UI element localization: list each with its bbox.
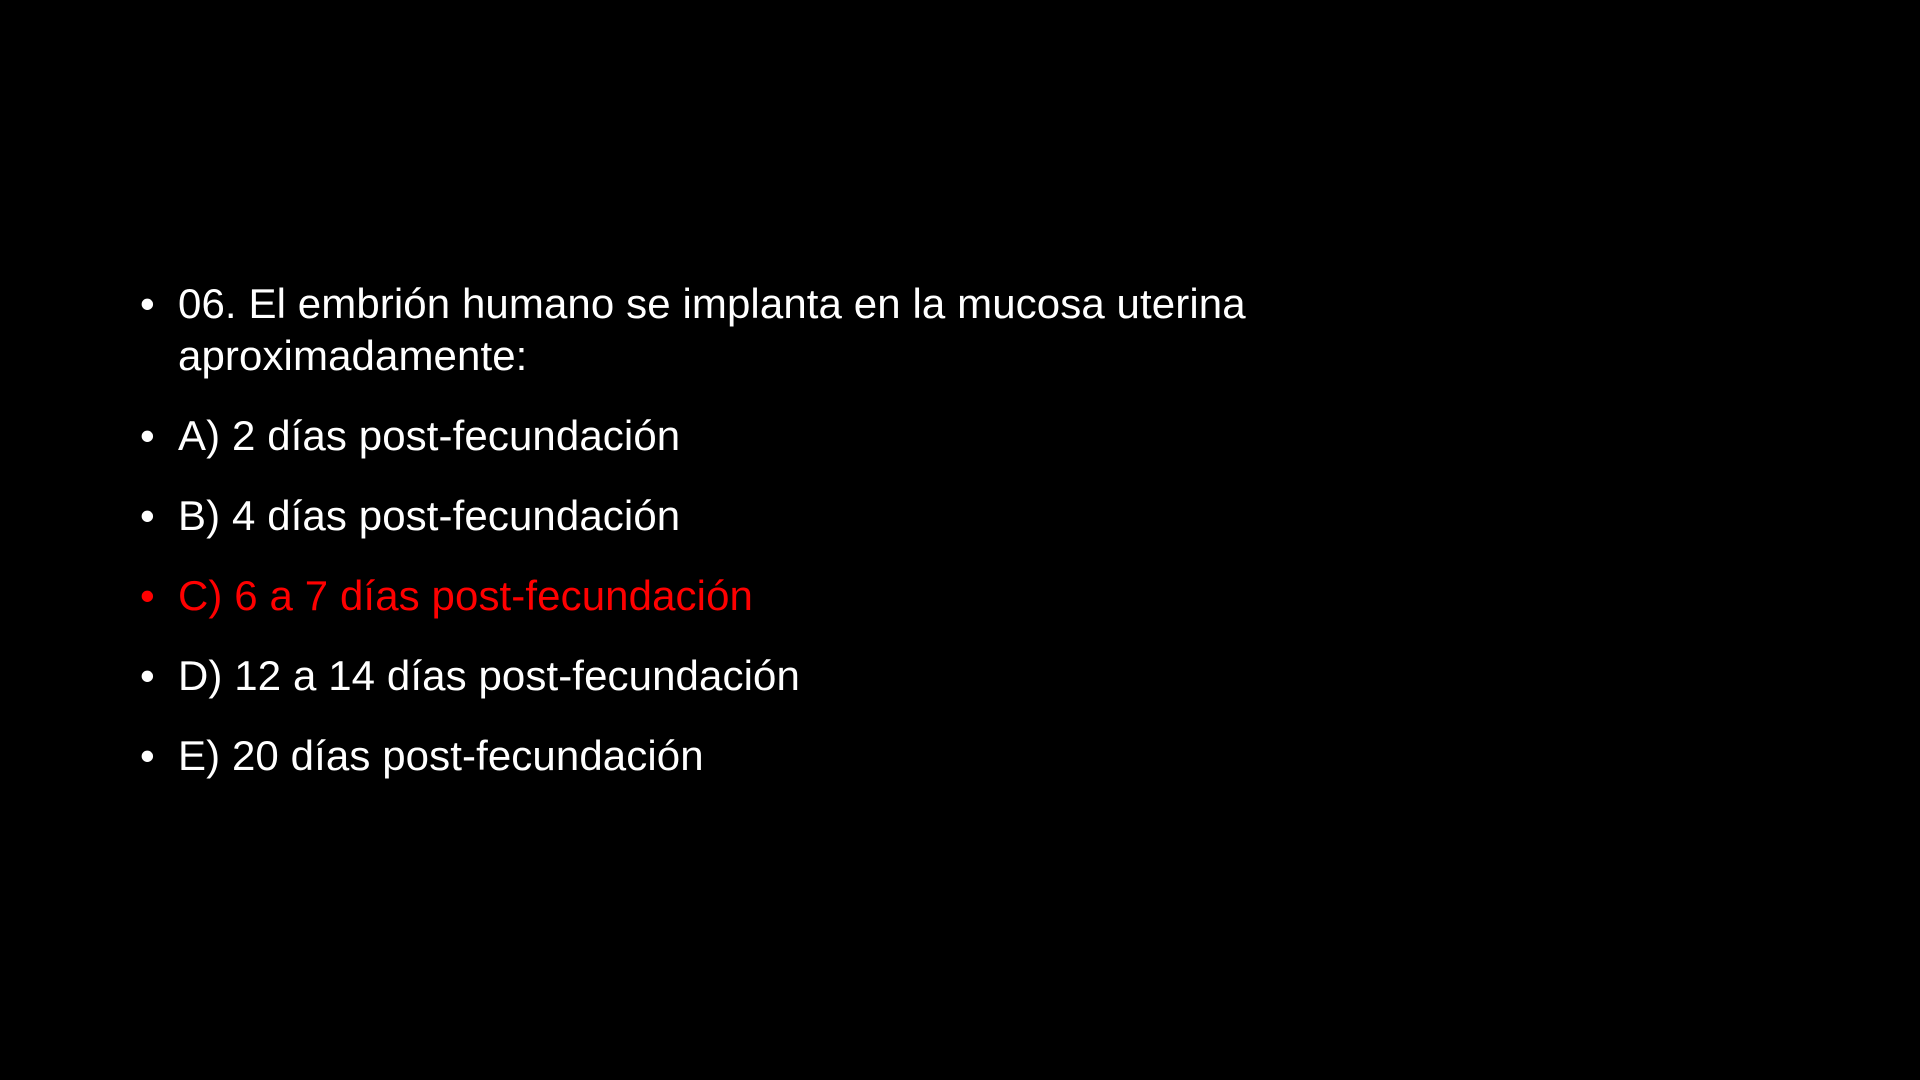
list-item-option-b[interactable]: • B) 4 días post-fecundación	[140, 490, 1700, 542]
bullet-icon: •	[140, 650, 178, 702]
question-text: 06. El embrión humano se implanta en la …	[178, 278, 1253, 382]
bullet-icon: •	[140, 490, 178, 542]
list-item-option-a[interactable]: • A) 2 días post-fecundación	[140, 410, 1700, 462]
list-item-question: • 06. El embrión humano se implanta en l…	[140, 278, 1700, 382]
bullet-icon: •	[140, 730, 178, 782]
bullet-icon: •	[140, 570, 178, 622]
bullet-list: • 06. El embrión humano se implanta en l…	[140, 278, 1700, 810]
list-item-option-e[interactable]: • E) 20 días post-fecundación	[140, 730, 1700, 782]
option-a-text: A) 2 días post-fecundación	[178, 410, 1700, 462]
option-c-text: C) 6 a 7 días post-fecundación	[178, 570, 1700, 622]
option-b-text: B) 4 días post-fecundación	[178, 490, 1700, 542]
option-e-text: E) 20 días post-fecundación	[178, 730, 1700, 782]
bullet-icon: •	[140, 278, 178, 330]
slide-canvas: • 06. El embrión humano se implanta en l…	[0, 0, 1920, 1080]
option-d-text: D) 12 a 14 días post-fecundación	[178, 650, 1700, 702]
bullet-icon: •	[140, 410, 178, 462]
list-item-option-c[interactable]: • C) 6 a 7 días post-fecundación	[140, 570, 1700, 622]
list-item-option-d[interactable]: • D) 12 a 14 días post-fecundación	[140, 650, 1700, 702]
